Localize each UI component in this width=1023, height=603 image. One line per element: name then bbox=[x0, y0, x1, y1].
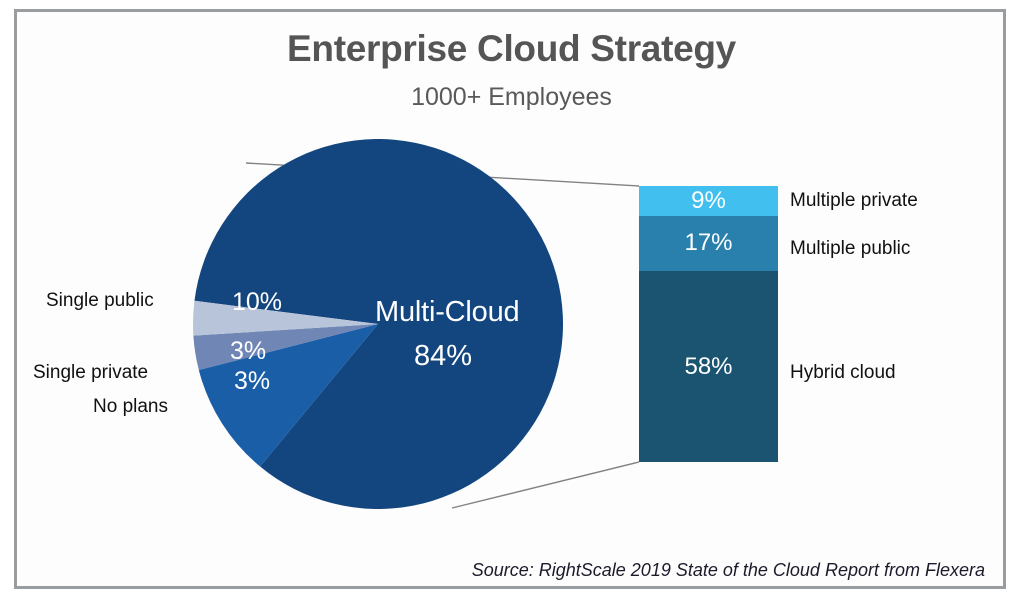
pie-chart-svg bbox=[193, 139, 563, 509]
pie-chart bbox=[193, 139, 563, 509]
bar-legend-label-hybrid-cloud: Hybrid cloud bbox=[790, 362, 896, 384]
bar-value-multiple-private: 9% bbox=[691, 187, 726, 215]
source-note: Source: RightScale 2019 State of the Clo… bbox=[472, 560, 985, 581]
bar-legend-label-multiple-public: Multiple public bbox=[790, 238, 910, 260]
bar-segment-hybrid-cloud[interactable]: 58% bbox=[639, 271, 778, 462]
breakout-stacked-bar: 9% 17% 58% bbox=[639, 186, 778, 462]
pie-category-label-single-private: Single private bbox=[33, 362, 148, 384]
pie-category-label-no-plans: No plans bbox=[93, 396, 168, 418]
pie-category-label-single-public: Single public bbox=[46, 290, 154, 312]
chart-subtitle: 1000+ Employees bbox=[0, 83, 1023, 112]
bar-value-multiple-public: 17% bbox=[684, 229, 732, 257]
chart-title: Enterprise Cloud Strategy bbox=[0, 28, 1023, 70]
bar-segment-multiple-private[interactable]: 9% bbox=[639, 186, 778, 216]
bar-value-hybrid-cloud: 58% bbox=[684, 353, 732, 381]
chart-canvas: Enterprise Cloud Strategy 1000+ Employee… bbox=[0, 0, 1023, 603]
bar-legend-label-multiple-private: Multiple private bbox=[790, 190, 918, 212]
bar-segment-multiple-public[interactable]: 17% bbox=[639, 216, 778, 272]
